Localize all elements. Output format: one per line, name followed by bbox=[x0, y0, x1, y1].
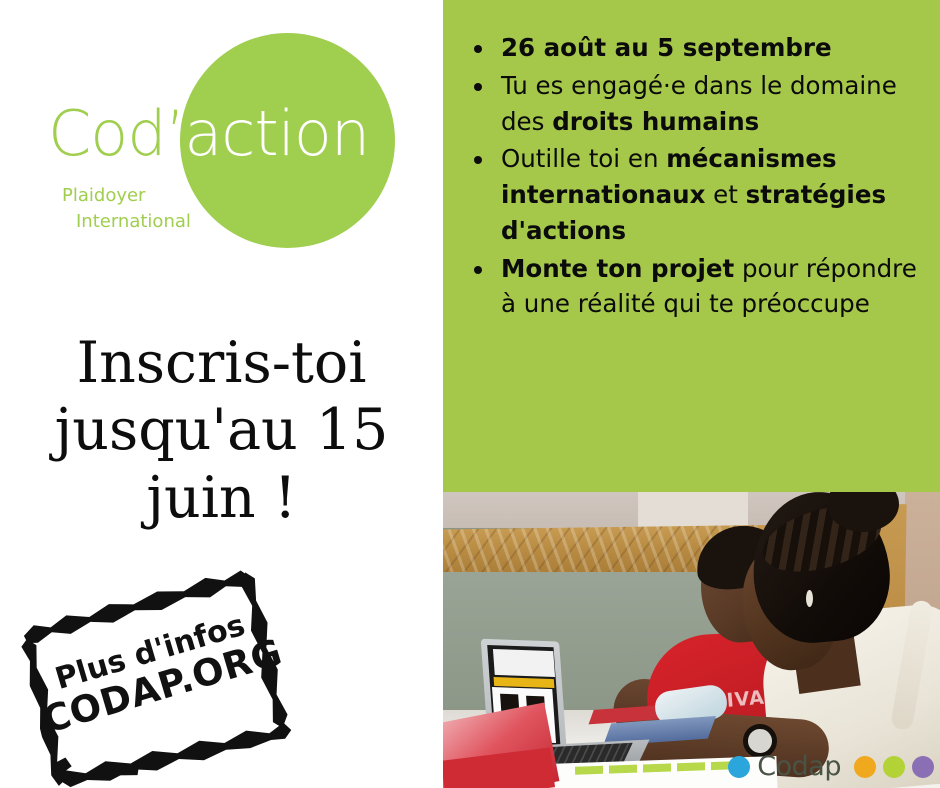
bullet-text: Outille toi en bbox=[501, 144, 666, 173]
bullet-emphasis: droits humains bbox=[552, 107, 759, 136]
photo-participants: RIVALI bbox=[443, 492, 940, 788]
logo-tagline: Plaidoyer International bbox=[62, 183, 191, 234]
green-info-box: 26 août au 5 septembreTu es engagé·e dan… bbox=[443, 0, 940, 492]
codap-dot-blue-icon bbox=[728, 756, 750, 778]
codap-dot-green-icon bbox=[883, 756, 905, 778]
logo-word-action: action bbox=[184, 97, 369, 170]
codap-logo[interactable]: Codap bbox=[728, 751, 934, 782]
bullet-item: Outille toi en mécanismes internationaux… bbox=[466, 141, 934, 248]
photo-wall-poster bbox=[638, 492, 748, 528]
bullet-emphasis: 26 août au 5 septembre bbox=[501, 33, 832, 62]
logo-tagline-line1: Plaidoyer bbox=[62, 185, 145, 206]
page-title: Inscris-toi jusqu'au 15 juin ! bbox=[0, 330, 443, 532]
more-info-stamp[interactable]: Plus d'infos CODAP.ORG bbox=[14, 561, 300, 788]
codap-dot-purple-icon bbox=[912, 756, 934, 778]
logo-apostrophe: ’ bbox=[166, 97, 185, 170]
photo-woman-earring bbox=[806, 590, 813, 607]
codap-logo-label: Codap bbox=[757, 751, 841, 782]
bullet-text: et bbox=[705, 180, 745, 209]
codap-dot-orange-icon bbox=[854, 756, 876, 778]
bullet-item: Monte ton projet pour répondre à une réa… bbox=[466, 251, 934, 323]
codaction-logo: Cod’action Plaidoyer International bbox=[0, 0, 443, 280]
bullet-list: 26 août au 5 septembreTu es engagé·e dan… bbox=[466, 30, 934, 324]
logo-tagline-line2: International bbox=[76, 209, 191, 235]
logo-word-cod: Cod bbox=[48, 97, 166, 170]
bullet-emphasis: Monte ton projet bbox=[501, 254, 734, 283]
bullet-item: 26 août au 5 septembre bbox=[466, 30, 934, 66]
right-panel: 26 août au 5 septembreTu es engagé·e dan… bbox=[443, 0, 940, 788]
left-panel: Cod’action Plaidoyer International Inscr… bbox=[0, 0, 443, 788]
bullet-item: Tu es engagé·e dans le domaine des droit… bbox=[466, 68, 934, 140]
poster: Cod’action Plaidoyer International Inscr… bbox=[0, 0, 940, 788]
logo-wordmark: Cod’action bbox=[48, 103, 369, 165]
photo-screen-browser bbox=[493, 649, 555, 677]
